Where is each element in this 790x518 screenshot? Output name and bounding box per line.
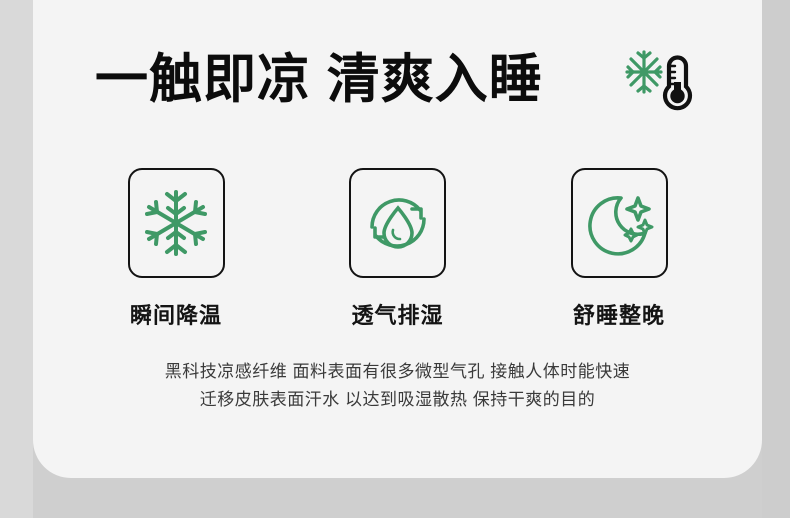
- icon-box: [128, 168, 225, 278]
- header: 一触即凉 清爽入睡: [33, 40, 762, 120]
- snowflake-icon: [140, 187, 212, 259]
- feature-label: 瞬间降温: [130, 298, 222, 330]
- left-gutter: [0, 0, 33, 518]
- icon-box: [571, 168, 668, 278]
- feature-item-instant-cooling[interactable]: 瞬间降温: [111, 168, 241, 330]
- description-line-2: 迁移皮肤表面汗水 以达到吸湿散热 保持干爽的目的: [33, 386, 762, 414]
- feature-list: 瞬间降温: [33, 168, 762, 330]
- description-text: 黑科技凉感纤维 面料表面有很多微型气孔 接触人体时能快速 迁移皮肤表面汗水 以达…: [33, 358, 762, 414]
- feature-label: 透气排湿: [351, 298, 443, 330]
- icon-box: [349, 168, 446, 278]
- right-gutter: [762, 0, 790, 518]
- content-card: 一触即凉 清爽入睡: [33, 0, 762, 478]
- description-line-1: 黑科技凉感纤维 面料表面有很多微型气孔 接触人体时能快速: [33, 358, 762, 386]
- page-title: 一触即凉 清爽入睡: [95, 40, 543, 120]
- feature-label: 舒睡整晚: [573, 298, 665, 330]
- feature-item-breathable-moisture[interactable]: 透气排湿: [333, 168, 463, 330]
- crescent-moon-stars-icon: [583, 187, 655, 259]
- feature-item-comfortable-sleep[interactable]: 舒睡整晚: [554, 168, 684, 330]
- moisture-recycle-droplet-icon: [362, 187, 434, 259]
- promo-banner: 一触即凉 清爽入睡: [0, 0, 790, 518]
- snowflake-thermometer-icon: [625, 46, 701, 114]
